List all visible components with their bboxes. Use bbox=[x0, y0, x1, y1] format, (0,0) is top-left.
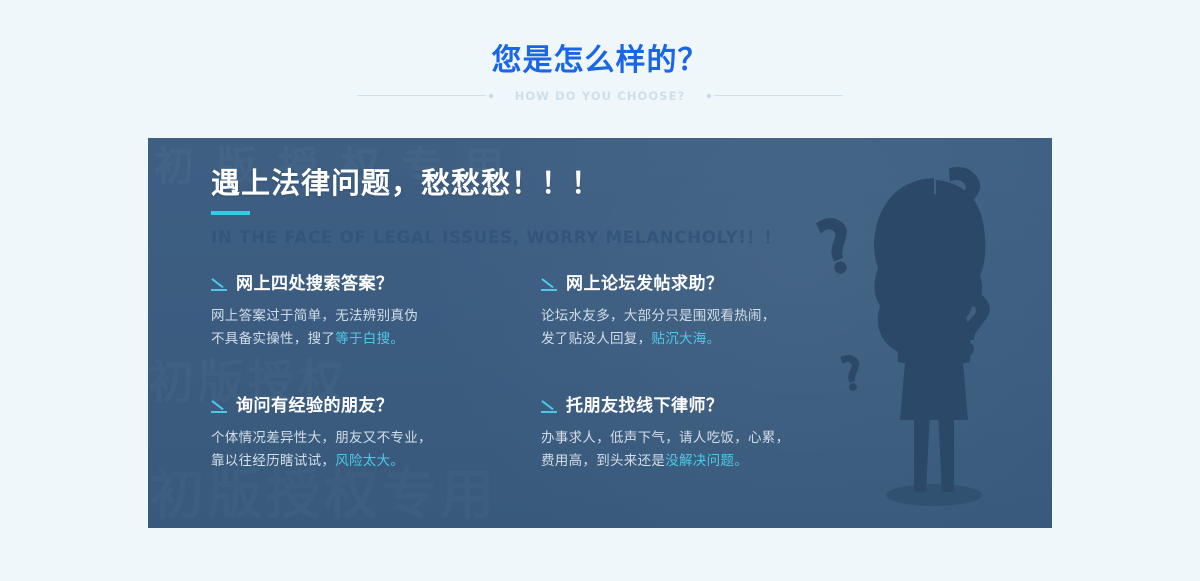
problem-item-title-row: 托朋友找线下律师？ bbox=[541, 396, 871, 416]
heading-accent-rule bbox=[211, 211, 250, 215]
problem-item-line2: 靠以往经历瞎试试， bbox=[211, 453, 335, 469]
problem-item-title: 托朋友找线下律师？ bbox=[566, 396, 724, 416]
problem-item: 网上论坛发帖求助？ 论坛水友多，大部分只是围观看热闹， 发了贴没人回复，贴沉大海… bbox=[541, 274, 871, 350]
problem-item-line2: 不具备实操性，搜了 bbox=[211, 331, 335, 347]
question-mark-icon bbox=[816, 213, 862, 276]
problem-item-line1: 个体情况差异性大，朋友又不专业， bbox=[211, 430, 432, 446]
section-header: 您是怎么样的？ HOW DO YOU CHOOSE? bbox=[0, 42, 1200, 103]
check-slash-icon bbox=[211, 399, 227, 414]
problem-item-body: 个体情况差异性大，朋友又不专业， 靠以往经历瞎试试，风险太大。 bbox=[211, 427, 541, 472]
problem-item-line1: 论坛水友多，大部分只是围观看热闹， bbox=[541, 308, 776, 324]
panel-heading-block: 遇上法律问题，愁愁愁！！！ IN THE FACE OF LEGAL ISSUE… bbox=[211, 166, 781, 248]
problem-item-line1: 办事求人，低声下气，请人吃饭，心累， bbox=[541, 430, 789, 446]
decorative-dot-left bbox=[489, 94, 493, 98]
page-subtitle: HOW DO YOU CHOOSE? bbox=[497, 89, 704, 103]
decorative-line-left bbox=[357, 95, 485, 96]
check-slash-icon bbox=[211, 277, 227, 292]
check-slash-icon bbox=[541, 399, 557, 414]
problem-item-title-row: 网上论坛发帖求助？ bbox=[541, 274, 871, 294]
problem-item-line2: 发了贴没人回复， bbox=[541, 331, 651, 347]
page-title: 您是怎么样的？ bbox=[0, 42, 1200, 80]
problem-item: 网上四处搜索答案？ 网上答案过于简单，无法辨别真伪 不具备实操性，搜了等于白搜。 bbox=[211, 274, 541, 350]
problem-item-line1: 网上答案过于简单，无法辨别真伪 bbox=[211, 308, 418, 324]
problems-panel: 初 版 授 权 专 用 初版授权 初版授权专用 bbox=[148, 138, 1052, 528]
problem-item-title-row: 网上四处搜索答案？ bbox=[211, 274, 541, 294]
decorative-line-right bbox=[715, 95, 843, 96]
section-subtitle-row: HOW DO YOU CHOOSE? bbox=[0, 89, 1200, 103]
question-mark-icon bbox=[960, 291, 990, 356]
problem-item-title: 网上论坛发帖求助？ bbox=[566, 274, 724, 294]
problem-item: 托朋友找线下律师？ 办事求人，低声下气，请人吃饭，心累， 费用高，到头来还是没解… bbox=[541, 396, 871, 472]
check-slash-icon bbox=[541, 277, 557, 292]
problem-item-title: 询问有经验的朋友？ bbox=[236, 396, 394, 416]
decorative-dot-right bbox=[707, 94, 711, 98]
problem-item-body: 办事求人，低声下气，请人吃饭，心累， 费用高，到头来还是没解决问题。 bbox=[541, 427, 871, 472]
problem-item-body: 网上答案过于简单，无法辨别真伪 不具备实操性，搜了等于白搜。 bbox=[211, 305, 541, 350]
problem-item-highlight: 风险太大。 bbox=[335, 453, 404, 469]
panel-heading: 遇上法律问题，愁愁愁！！！ bbox=[211, 166, 781, 201]
problem-item-line2: 费用高，到头来还是 bbox=[541, 453, 665, 469]
problem-items-grid: 网上四处搜索答案？ 网上答案过于简单，无法辨别真伪 不具备实操性，搜了等于白搜。… bbox=[211, 274, 911, 472]
problem-item-highlight: 等于白搜。 bbox=[335, 331, 404, 347]
problem-item: 询问有经验的朋友？ 个体情况差异性大，朋友又不专业， 靠以往经历瞎试试，风险太大… bbox=[211, 396, 541, 472]
problem-item-highlight: 贴沉大海。 bbox=[651, 331, 720, 347]
silhouette-shadow bbox=[886, 484, 982, 506]
problem-item-title-row: 询问有经验的朋友？ bbox=[211, 396, 541, 416]
problem-item-body: 论坛水友多，大部分只是围观看热闹， 发了贴没人回复，贴沉大海。 bbox=[541, 305, 871, 350]
problem-item-highlight: 没解决问题。 bbox=[665, 453, 748, 469]
panel-subheading: IN THE FACE OF LEGAL ISSUES, WORRY MELAN… bbox=[211, 224, 781, 248]
problem-item-title: 网上四处搜索答案？ bbox=[236, 274, 394, 294]
question-mark-icon bbox=[949, 167, 980, 235]
